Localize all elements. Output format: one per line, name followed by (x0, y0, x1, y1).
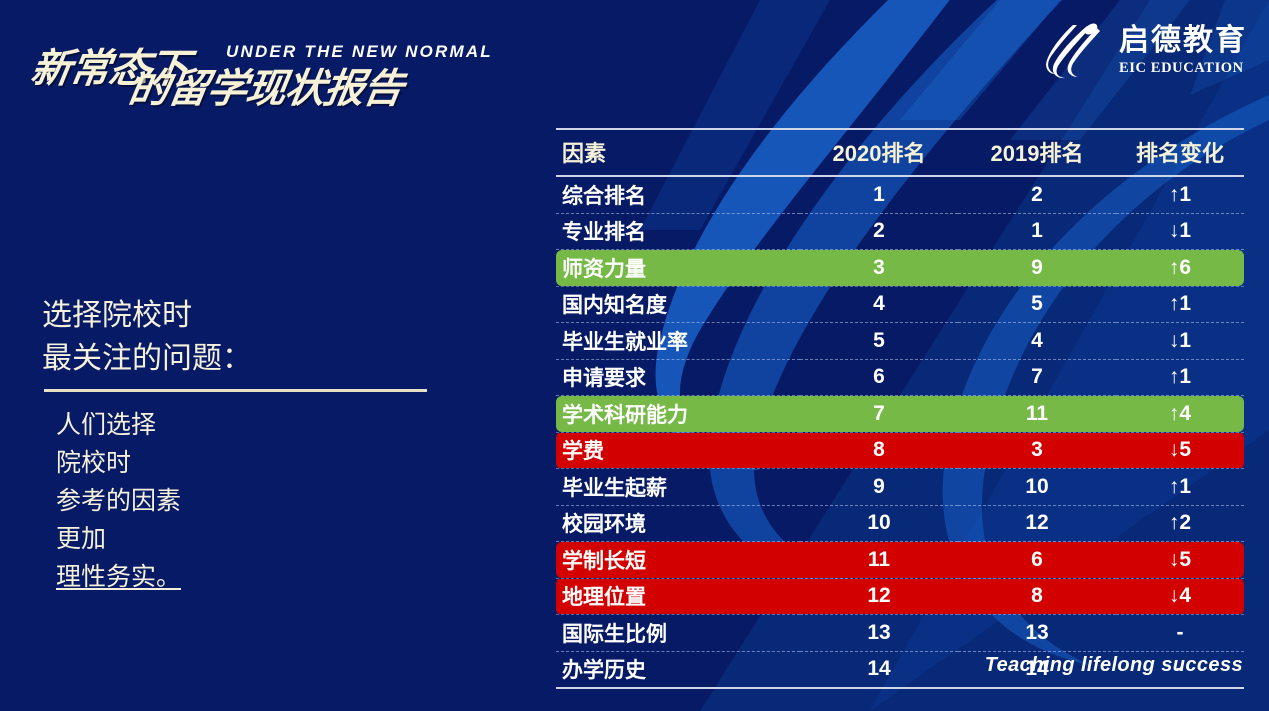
cell-factor: 毕业生就业率 (556, 323, 800, 360)
cell-factor: 校园环境 (556, 505, 800, 542)
cell-rank-2019: 8 (958, 578, 1116, 615)
cell-rank-2019: 11 (958, 396, 1116, 433)
table-row: 专业排名21↓1 (556, 213, 1244, 250)
cell-change: ↓5 (1116, 542, 1244, 579)
panel-body-line: 参考的因素 (56, 482, 482, 520)
cell-rank-2020: 6 (800, 359, 958, 396)
cell-change: ↑4 (1116, 396, 1244, 433)
cell-rank-2019: 9 (958, 250, 1116, 287)
cell-factor: 学制长短 (556, 542, 800, 579)
cell-rank-2019: 3 (958, 432, 1116, 469)
cell-rank-2019: 7 (958, 359, 1116, 396)
masthead: UNDER THE NEW NORMAL 新常态下 的留学现状报告 (26, 14, 496, 94)
table-row: 国际生比例1313- (556, 615, 1244, 652)
cell-change: ↑1 (1116, 176, 1244, 213)
cell-factor: 综合排名 (556, 176, 800, 213)
cell-rank-2020: 13 (800, 615, 958, 652)
cell-factor: 办学历史 (556, 651, 800, 687)
cell-rank-2020: 11 (800, 542, 958, 579)
column-header-factor: 因素 (556, 129, 800, 176)
cell-rank-2020: 7 (800, 396, 958, 433)
panel-body-text: 人们选择院校时参考的因素更加理性务实。 (56, 406, 482, 596)
table-row: 申请要求67↑1 (556, 359, 1244, 396)
table-header-row: 因素 2020排名 2019排名 排名变化 (556, 129, 1244, 176)
table-row: 国内知名度45↑1 (556, 286, 1244, 323)
cell-rank-2019: 2 (958, 176, 1116, 213)
cell-factor: 申请要求 (556, 359, 800, 396)
panel-heading-line2: 最关注的问题： (42, 338, 482, 381)
cell-change: ↑1 (1116, 286, 1244, 323)
ranking-table-container: 因素 2020排名 2019排名 排名变化 综合排名12↑1专业排名21↓1师资… (556, 128, 1244, 689)
cell-change: ↑1 (1116, 469, 1244, 506)
panel-body-line: 人们选择 (56, 406, 482, 444)
table-header: 因素 2020排名 2019排名 排名变化 (556, 129, 1244, 176)
slide-root: UNDER THE NEW NORMAL 新常态下 的留学现状报告 启德教育 E… (0, 0, 1269, 711)
table-row: 毕业生就业率54↓1 (556, 323, 1244, 360)
cell-change: ↓4 (1116, 578, 1244, 615)
footer-tagline: Teaching lifelong success (985, 654, 1243, 677)
table-row: 学制长短116↓5 (556, 542, 1244, 579)
table-row: 校园环境1012↑2 (556, 505, 1244, 542)
cell-rank-2020: 5 (800, 323, 958, 360)
cell-rank-2020: 9 (800, 469, 958, 506)
cell-change: ↑2 (1116, 505, 1244, 542)
cell-change: ↓1 (1116, 213, 1244, 250)
table-row: 师资力量39↑6 (556, 250, 1244, 287)
logo-name-chinese: 启德教育 (1119, 26, 1247, 56)
cell-rank-2020: 14 (800, 651, 958, 687)
column-header-change: 排名变化 (1116, 129, 1244, 176)
left-text-panel: 选择院校时 最关注的问题： 人们选择院校时参考的因素更加理性务实。 (42, 295, 482, 596)
table-row: 学术科研能力711↑4 (556, 396, 1244, 433)
logo-name-english: EIC EDUCATION (1119, 61, 1244, 76)
table-row: 学费83↓5 (556, 432, 1244, 469)
cell-rank-2020: 4 (800, 286, 958, 323)
table-row: 地理位置128↓4 (556, 578, 1244, 615)
panel-body-line: 更加 (56, 520, 482, 558)
cell-rank-2020: 8 (800, 432, 958, 469)
cell-rank-2019: 12 (958, 505, 1116, 542)
cell-change: ↑6 (1116, 250, 1244, 287)
column-header-rank-2020: 2020排名 (800, 129, 958, 176)
cell-factor: 国际生比例 (556, 615, 800, 652)
cell-change: ↑1 (1116, 359, 1244, 396)
cell-rank-2020: 1 (800, 176, 958, 213)
cell-factor: 学费 (556, 432, 800, 469)
cell-factor: 国内知名度 (556, 286, 800, 323)
cell-rank-2019: 5 (958, 286, 1116, 323)
cell-rank-2019: 4 (958, 323, 1116, 360)
table-body: 综合排名12↑1专业排名21↓1师资力量39↑6国内知名度45↑1毕业生就业率5… (556, 176, 1244, 687)
brand-logo: 启德教育 EIC EDUCATION (1043, 22, 1247, 80)
eic-swoosh-logo-icon (1043, 22, 1105, 80)
table-row: 毕业生起薪910↑1 (556, 469, 1244, 506)
cell-factor: 毕业生起薪 (556, 469, 800, 506)
cell-factor: 学术科研能力 (556, 396, 800, 433)
cell-change: ↓5 (1116, 432, 1244, 469)
panel-body-line: 理性务实。 (56, 558, 482, 596)
cell-factor: 专业排名 (556, 213, 800, 250)
table-bottom-rule (556, 687, 1244, 689)
cell-rank-2020: 10 (800, 505, 958, 542)
column-header-rank-2019: 2019排名 (958, 129, 1116, 176)
cell-factor: 地理位置 (556, 578, 800, 615)
panel-body-line: 院校时 (56, 444, 482, 482)
cell-rank-2019: 1 (958, 213, 1116, 250)
cell-rank-2019: 10 (958, 469, 1116, 506)
cell-rank-2020: 2 (800, 213, 958, 250)
cell-rank-2020: 3 (800, 250, 958, 287)
cell-change: ↓1 (1116, 323, 1244, 360)
cell-rank-2019: 6 (958, 542, 1116, 579)
cell-factor: 师资力量 (556, 250, 800, 287)
title-chinese-line2: 的留学现状报告 (125, 56, 407, 114)
panel-heading-line1: 选择院校时 (42, 295, 482, 338)
panel-divider (44, 389, 427, 392)
cell-rank-2020: 12 (800, 578, 958, 615)
cell-rank-2019: 13 (958, 615, 1116, 652)
logo-wordmark: 启德教育 EIC EDUCATION (1119, 26, 1247, 76)
cell-change: - (1116, 615, 1244, 652)
table-row: 综合排名12↑1 (556, 176, 1244, 213)
ranking-table: 因素 2020排名 2019排名 排名变化 综合排名12↑1专业排名21↓1师资… (556, 128, 1244, 687)
